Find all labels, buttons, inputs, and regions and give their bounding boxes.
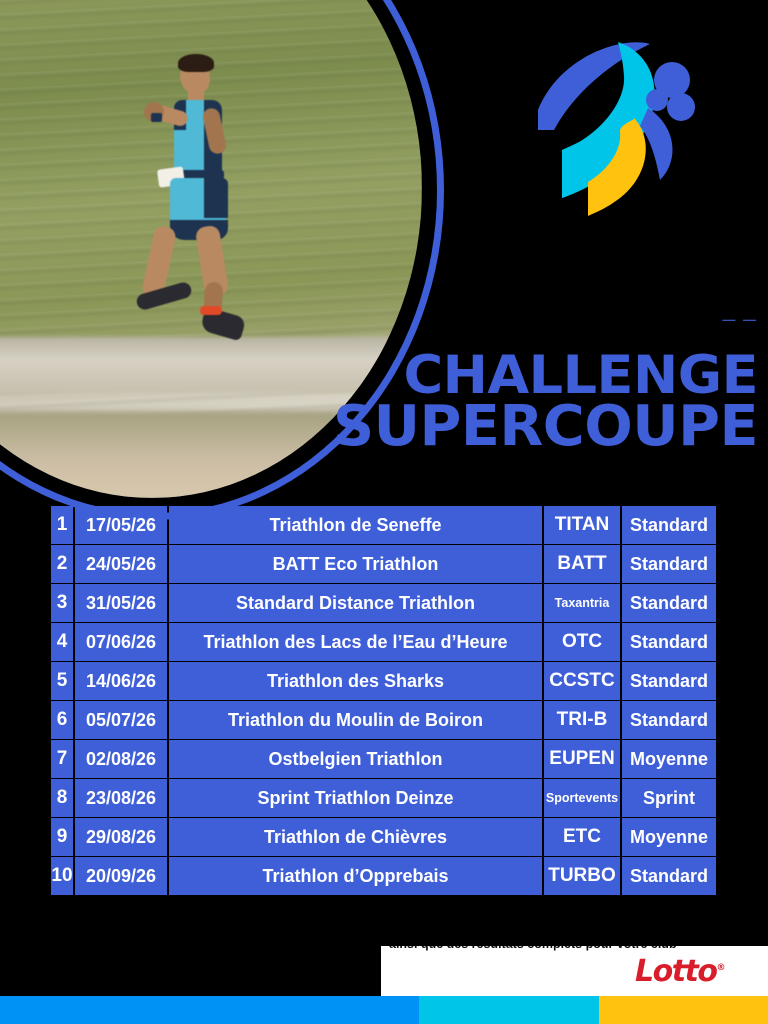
table-row: 605/07/26Triathlon du Moulin de BoironTR… (51, 701, 716, 739)
row-club: EUPEN (544, 740, 620, 778)
row-distance: Moyenne (622, 818, 716, 856)
row-club: TURBO (544, 857, 620, 895)
row-distance: Standard (622, 857, 716, 895)
schedule-table: 117/05/26Triathlon de SeneffeTITANStanda… (49, 505, 718, 896)
row-distance: Standard (622, 623, 716, 661)
registered-mark: ® (717, 963, 725, 973)
row-club: TITAN (544, 506, 620, 544)
page-title: CHALLENGE SUPERCOUPE (0, 352, 758, 452)
row-date: 20/09/26 (75, 857, 167, 895)
row-index: 2 (51, 545, 73, 583)
table-row: 514/06/26Triathlon des SharksCCSTCStanda… (51, 662, 716, 700)
row-date: 23/08/26 (75, 779, 167, 817)
title-line-2: SUPERCOUPE (0, 401, 758, 453)
row-event-name: Triathlon du Moulin de Boiron (169, 701, 542, 739)
row-event-name: Sprint Triathlon Deinze (169, 779, 542, 817)
row-index: 6 (51, 701, 73, 739)
footer-panel: ainsi que des résultats complets pour vo… (381, 946, 768, 998)
cyan-arc-lower (562, 138, 588, 198)
row-index: 3 (51, 584, 73, 622)
row-event-name: Triathlon de Seneffe (169, 506, 542, 544)
row-distance: Moyenne (622, 740, 716, 778)
bottom-color-bar (0, 996, 768, 1024)
row-date: 02/08/26 (75, 740, 167, 778)
row-index: 9 (51, 818, 73, 856)
row-index: 1 (51, 506, 73, 544)
table-row: 407/06/26Triathlon des Lacs de l’Eau d’H… (51, 623, 716, 661)
row-date: 14/06/26 (75, 662, 167, 700)
row-event-name: Standard Distance Triathlon (169, 584, 542, 622)
lotto-wordmark: Lotto (635, 954, 717, 989)
row-event-name: BATT Eco Triathlon (169, 545, 542, 583)
row-index: 7 (51, 740, 73, 778)
row-club: TRI-B (544, 701, 620, 739)
row-date: 29/08/26 (75, 818, 167, 856)
row-index: 5 (51, 662, 73, 700)
table-row: 117/05/26Triathlon de SeneffeTITANStanda… (51, 506, 716, 544)
row-club: ETC (544, 818, 620, 856)
pretitle: — — (0, 312, 758, 328)
row-distance: Standard (622, 662, 716, 700)
table-row: 823/08/26Sprint Triathlon DeinzeSporteve… (51, 779, 716, 817)
row-club: BATT (544, 545, 620, 583)
row-distance: Standard (622, 545, 716, 583)
lotto-sponsor-logo: Lotto® (635, 954, 724, 989)
dot-small (646, 89, 668, 111)
row-event-name: Triathlon de Chièvres (169, 818, 542, 856)
table-row: 929/08/26Triathlon de ChièvresETCMoyenne (51, 818, 716, 856)
row-event-name: Triathlon des Sharks (169, 662, 542, 700)
row-event-name: Triathlon des Lacs de l’Eau d’Heure (169, 623, 542, 661)
runner-figure (118, 50, 318, 350)
row-club: OTC (544, 623, 620, 661)
row-distance: Sprint (622, 779, 716, 817)
table-row: 702/08/26Ostbelgien TriathlonEUPENMoyenn… (51, 740, 716, 778)
table-row: 331/05/26Standard Distance TriathlonTaxa… (51, 584, 716, 622)
row-distance: Standard (622, 584, 716, 622)
footer-note: ainsi que des résultats complets pour vo… (389, 946, 759, 951)
row-distance: Standard (622, 701, 716, 739)
color-bar-light-blue (0, 996, 419, 1024)
row-index: 4 (51, 623, 73, 661)
row-index: 10 (51, 857, 73, 895)
row-club: CCSTC (544, 662, 620, 700)
dot-medium (667, 93, 695, 121)
row-date: 17/05/26 (75, 506, 167, 544)
row-distance: Standard (622, 506, 716, 544)
color-bar-yellow (599, 996, 768, 1024)
row-date: 05/07/26 (75, 701, 167, 739)
row-index: 8 (51, 779, 73, 817)
table-row: 1020/09/26Triathlon d’OpprebaisTURBOStan… (51, 857, 716, 895)
row-club: Sportevents (544, 779, 620, 817)
btf-swoosh-logo (500, 30, 730, 260)
row-date: 07/06/26 (75, 623, 167, 661)
table-row: 224/05/26BATT Eco TriathlonBATTStandard (51, 545, 716, 583)
row-date: 24/05/26 (75, 545, 167, 583)
color-bar-cyan (419, 996, 599, 1024)
row-event-name: Ostbelgien Triathlon (169, 740, 542, 778)
schedule-body: 117/05/26Triathlon de SeneffeTITANStanda… (51, 506, 716, 895)
row-event-name: Triathlon d’Opprebais (169, 857, 542, 895)
row-club: Taxantria (544, 584, 620, 622)
row-date: 31/05/26 (75, 584, 167, 622)
